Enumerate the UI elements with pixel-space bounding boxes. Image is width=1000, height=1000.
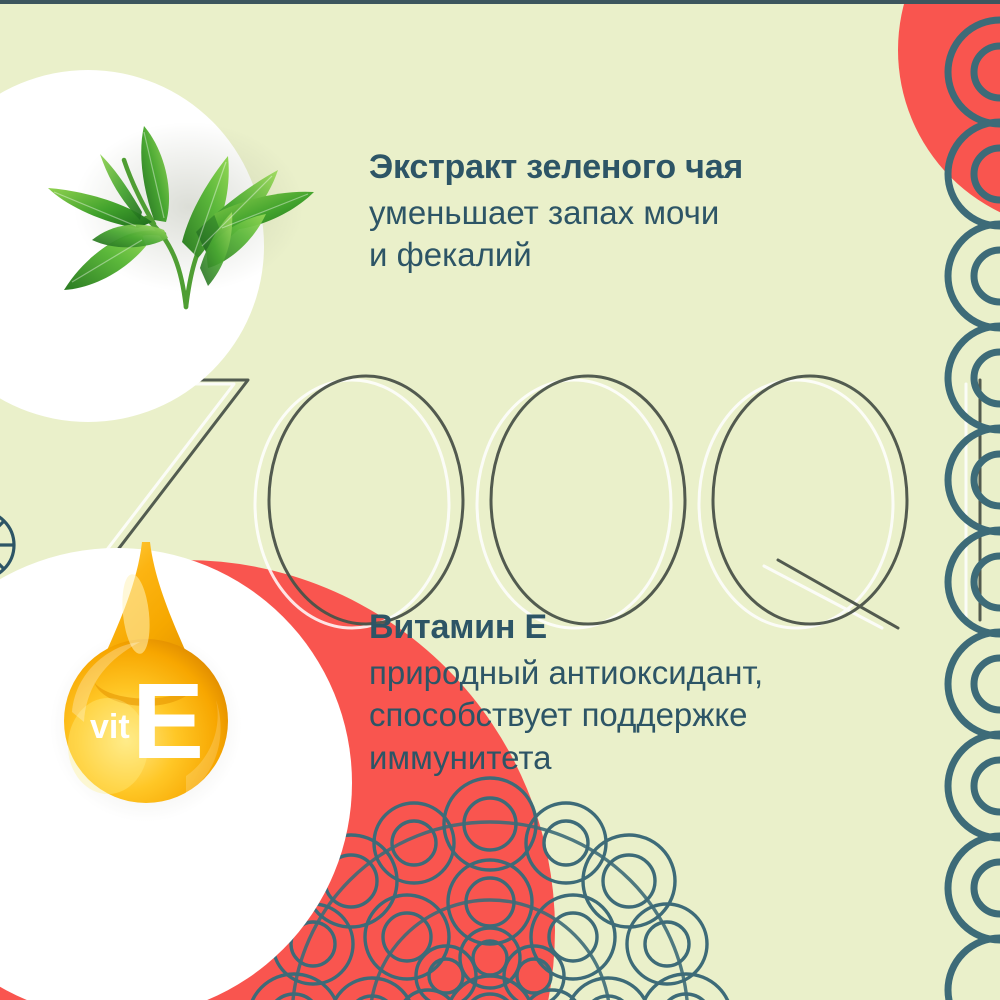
feature-vitamin-e-text: Витамин Е природный антиоксидант, способ… xyxy=(369,608,909,779)
vitamin-e-oil-drop-icon: vit E xyxy=(36,536,251,826)
vitamin-e-body-line-1: природный антиоксидант, xyxy=(369,652,909,694)
vitamin-e-heading: Витамин Е xyxy=(369,608,909,646)
green-tea-body-line-1: уменьшает запах мочи xyxy=(369,192,889,234)
red-circle-top-right xyxy=(898,0,1000,230)
vitamin-e-body-line-3: иммунитета xyxy=(369,737,909,779)
vit-label: vit xyxy=(90,708,130,746)
top-accent-bar xyxy=(0,0,1000,4)
vitamin-e-body-line-2: способствует поддержке xyxy=(369,694,909,736)
green-tea-body-line-2: и фекалий xyxy=(369,234,889,276)
feature-green-tea-text: Экстракт зеленого чая уменьшает запах мо… xyxy=(369,148,889,277)
green-tea-heading: Экстракт зеленого чая xyxy=(369,148,889,186)
white-circle-top-left xyxy=(0,70,264,422)
letter-e-label: E xyxy=(132,660,204,781)
promo-poster: vit E Экстракт зеленого чая уменьшает за… xyxy=(0,0,1000,1000)
